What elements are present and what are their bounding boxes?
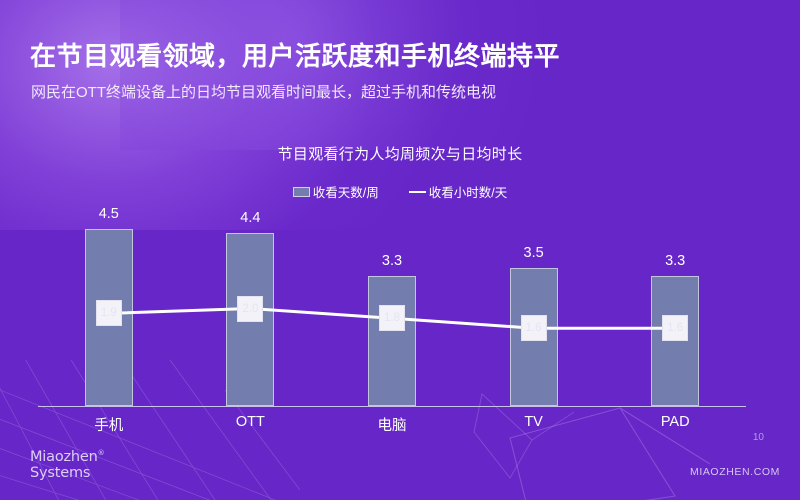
legend-item-bar: 收看天数/周: [293, 182, 379, 201]
legend-item-bar-label: 收看天数/周: [313, 182, 379, 201]
legend-line-swatch-icon: [409, 191, 426, 193]
category-label-0: 手机: [59, 414, 159, 435]
bar-2: [368, 276, 416, 406]
slide-subtitle: 网民在OTT终端设备上的日均节目观看时间最长，超过手机和传统电视: [31, 81, 496, 102]
brand-logo: Miaozhen® Systems: [30, 450, 104, 480]
line-point-label-3: 1.6: [521, 315, 547, 341]
legend-item-line: 收看小时数/天: [409, 182, 507, 201]
category-label-2: 电脑: [342, 414, 442, 435]
legend-item-line-label: 收看小时数/天: [429, 182, 507, 201]
legend-bar-swatch-icon: [293, 187, 310, 197]
line-point-label-4: 1.6: [662, 315, 688, 341]
chart-legend: 收看天数/周 收看小时数/天: [0, 182, 800, 201]
website-url: MIAOZHEN.COM: [690, 466, 780, 478]
slide-title: 在节目观看领域，用户活跃度和手机终端持平: [30, 36, 560, 73]
chart-title: 节目观看行为人均周频次与日均时长: [0, 143, 800, 164]
slide-canvas: 在节目观看领域，用户活跃度和手机终端持平 网民在OTT终端设备上的日均节目观看时…: [0, 0, 800, 500]
bar-value-label-4: 3.3: [645, 253, 705, 269]
line-point-label-2: 1.8: [379, 305, 405, 331]
category-label-4: PAD: [625, 414, 725, 430]
line-point-label-1: 2.0: [237, 296, 263, 322]
bar-value-label-1: 4.4: [220, 210, 280, 226]
registered-mark-icon: ®: [98, 449, 105, 457]
page-number: 10: [753, 432, 764, 443]
category-label-3: TV: [484, 414, 584, 430]
bar-value-label-0: 4.5: [79, 206, 139, 222]
brand-logo-main: Miaozhen®: [30, 450, 104, 465]
bar-value-label-3: 3.5: [504, 245, 564, 261]
bar-value-label-2: 3.3: [362, 253, 422, 269]
background-glow-secondary-decoration: [120, 0, 540, 150]
brand-logo-sub: Systems: [30, 466, 104, 481]
line-point-label-0: 1.9: [96, 300, 122, 326]
category-label-1: OTT: [200, 414, 300, 430]
brand-logo-name: Miaozhen: [30, 449, 98, 465]
